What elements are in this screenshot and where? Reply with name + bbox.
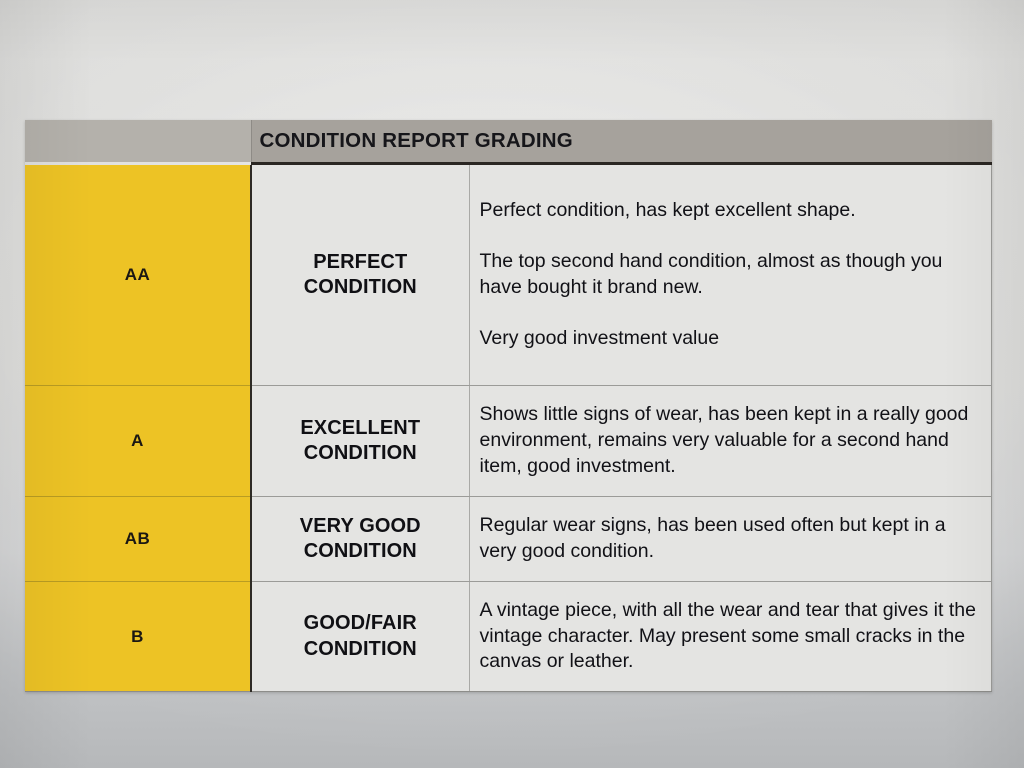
condition-name-cell-aa: PERFECT CONDITION — [251, 165, 469, 386]
grade-cell-ab: AB — [25, 497, 251, 582]
condition-name-line-1: VERY GOOD — [300, 515, 421, 537]
description-paragraph: The top second hand condition, almost as… — [480, 249, 980, 301]
condition-name-line-2: CONDITION — [304, 540, 417, 562]
page-title: CONDITION REPORT GRADING — [260, 129, 573, 152]
condition-report-grading-table: CONDITION REPORT GRADING AA PERFECT COND… — [25, 120, 992, 692]
condition-name-line-1: GOOD/FAIR — [304, 612, 417, 634]
condition-name-line-1: PERFECT — [313, 251, 407, 273]
description-cell-a: Shows little signs of wear, has been kep… — [469, 386, 992, 497]
condition-name-cell-ab: VERY GOOD CONDITION — [251, 497, 469, 582]
description-paragraph: Perfect condition, has kept excellent sh… — [480, 198, 980, 224]
grade-cell-b: B — [25, 582, 251, 692]
condition-name-line-2: CONDITION — [304, 442, 417, 464]
condition-name-cell-b: GOOD/FAIR CONDITION — [251, 582, 469, 692]
condition-name-line-2: CONDITION — [304, 276, 417, 298]
table-row: AB VERY GOOD CONDITION Regular wear sign… — [25, 497, 992, 582]
description-paragraph: Very good investment value — [480, 326, 980, 352]
photographed-document-page: CONDITION REPORT GRADING AA PERFECT COND… — [0, 0, 1024, 768]
header-band-left-blank — [25, 120, 251, 162]
table-row: B GOOD/FAIR CONDITION A vintage piece, w… — [25, 582, 992, 692]
table-row: A EXCELLENT CONDITION Shows little signs… — [25, 386, 992, 497]
condition-name-line-2: CONDITION — [304, 638, 417, 660]
description-cell-aa: Perfect condition, has kept excellent sh… — [469, 165, 992, 386]
condition-name-line-1: EXCELLENT — [300, 417, 420, 439]
description-cell-ab: Regular wear signs, has been used often … — [469, 497, 992, 582]
description-paragraph: Regular wear signs, has been used often … — [480, 513, 980, 565]
table-header-cell: CONDITION REPORT GRADING — [251, 120, 992, 162]
grade-cell-aa: AA — [25, 165, 251, 386]
table-header-row: CONDITION REPORT GRADING — [25, 120, 992, 162]
description-cell-b: A vintage piece, with all the wear and t… — [469, 582, 992, 692]
table-row: AA PERFECT CONDITION Perfect condition, … — [25, 165, 992, 386]
condition-name-cell-a: EXCELLENT CONDITION — [251, 386, 469, 497]
description-paragraph: A vintage piece, with all the wear and t… — [480, 598, 980, 676]
grade-cell-a: A — [25, 386, 251, 497]
description-paragraph: Shows little signs of wear, has been kep… — [480, 402, 980, 480]
